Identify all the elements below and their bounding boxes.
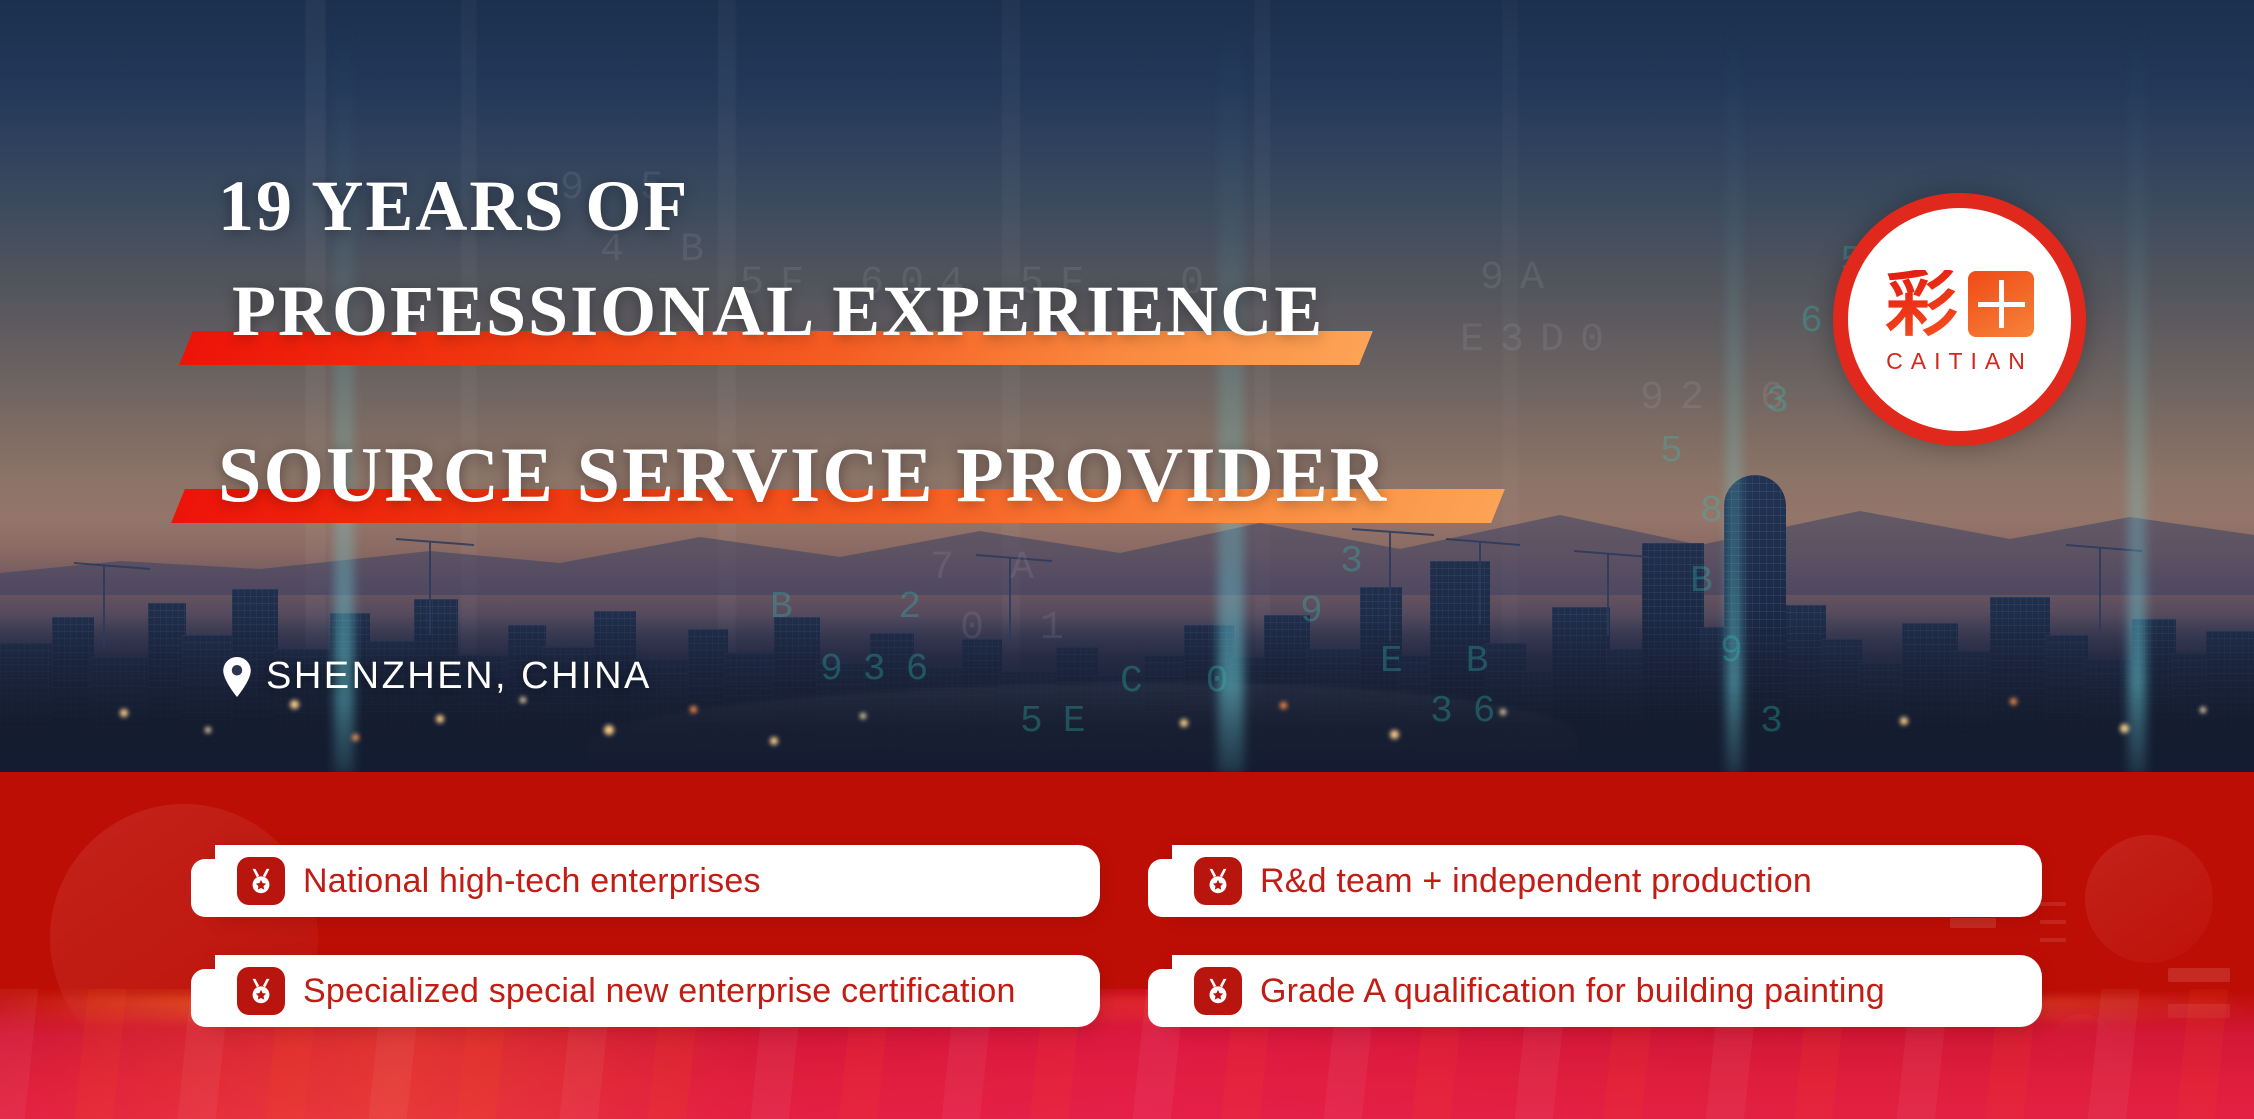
medal-icon bbox=[237, 967, 285, 1015]
promo-banner: 5F 604 5F 0 A7 8C 7 9A E3D0 92 6 7 A 0 1… bbox=[0, 0, 2254, 1119]
medal-icon bbox=[1194, 857, 1242, 905]
feature-pill[interactable]: Grade A qualification for building paint… bbox=[1172, 955, 2042, 1027]
feature-pill-label: Grade A qualification for building paint… bbox=[1260, 972, 1885, 1011]
feature-pill-label: R&d team + independent production bbox=[1260, 862, 1812, 901]
medal-icon bbox=[1194, 967, 1242, 1015]
feature-pill-list: National high-tech enterprises R&d team … bbox=[0, 0, 2254, 1119]
feature-pill[interactable]: Specialized special new enterprise certi… bbox=[215, 955, 1100, 1027]
feature-pill[interactable]: National high-tech enterprises bbox=[215, 845, 1100, 917]
feature-pill-label: Specialized special new enterprise certi… bbox=[303, 972, 1016, 1011]
medal-icon bbox=[237, 857, 285, 905]
feature-pill-label: National high-tech enterprises bbox=[303, 862, 761, 901]
feature-pill[interactable]: R&d team + independent production bbox=[1172, 845, 2042, 917]
